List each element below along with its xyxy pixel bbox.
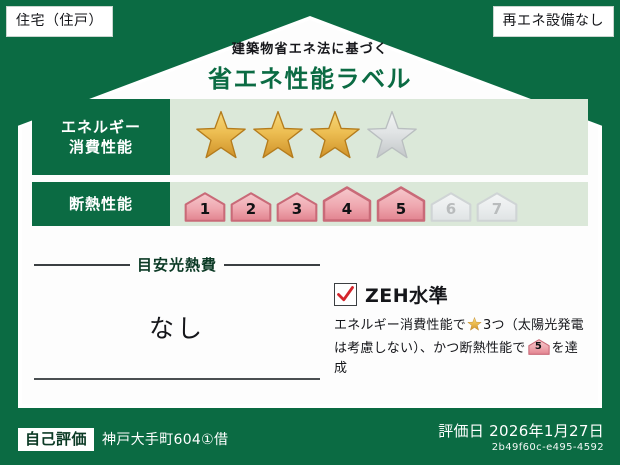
zeh-title: ZEH水準 bbox=[365, 281, 448, 308]
insulation-grade-value: 2 bbox=[246, 202, 256, 222]
insulation-grade-badges: 1234567 bbox=[184, 186, 518, 222]
insulation-performance-label: 断熱性能 bbox=[32, 182, 170, 226]
utility-cost-heading: 目安光熱費 bbox=[34, 254, 320, 275]
inline-badge-value: 5 bbox=[528, 339, 550, 355]
energy-performance-label: エネルギー 消費性能 bbox=[32, 99, 170, 175]
insulation-performance-row: 断熱性能 1234567 bbox=[32, 182, 588, 226]
utility-cost-heading-text: 目安光熱費 bbox=[137, 254, 217, 275]
energy-performance-value bbox=[170, 99, 588, 175]
insulation-grade-value: 3 bbox=[292, 202, 302, 222]
insulation-grade-6: 6 bbox=[430, 192, 472, 222]
insulation-grade-5: 5 bbox=[376, 186, 426, 222]
insulation-grade-3: 3 bbox=[276, 192, 318, 222]
insulation-grade-4: 4 bbox=[322, 186, 372, 222]
utility-cost-block: 目安光熱費 なし bbox=[34, 254, 320, 345]
star-filled-icon bbox=[308, 110, 362, 164]
insulation-grade-value: 7 bbox=[492, 202, 502, 222]
insulation-grade-2: 2 bbox=[230, 192, 272, 222]
star-filled-icon bbox=[194, 110, 248, 164]
zeh-description: エネルギー消費性能で3つ（太陽光発電は考慮しない）、かつ断熱性能で5を達成 bbox=[334, 316, 586, 379]
energy-label-line-1: エネルギー bbox=[61, 118, 141, 136]
energy-performance-row: エネルギー 消費性能 bbox=[32, 99, 588, 175]
performance-rows: エネルギー 消費性能 断熱性能 1234567 bbox=[32, 99, 588, 233]
utility-cost-bottom-rule bbox=[34, 378, 320, 380]
insulation-grade-1: 1 bbox=[184, 192, 226, 222]
property-address: 神戸大手町604①借 bbox=[102, 429, 228, 449]
utility-cost-value: なし bbox=[34, 309, 320, 345]
self-evaluation-badge: 自己評価 bbox=[18, 428, 94, 452]
zeh-checkbox-checked-icon bbox=[334, 283, 357, 306]
star-rating bbox=[194, 110, 419, 164]
zeh-desc-part-1: エネルギー消費性能で bbox=[334, 318, 466, 333]
insulation-performance-value: 1234567 bbox=[170, 182, 588, 226]
zeh-heading: ZEH水準 bbox=[334, 281, 586, 308]
insulation-grade-7: 7 bbox=[476, 192, 518, 222]
insulation-grade-value: 4 bbox=[342, 202, 352, 222]
star-empty-icon bbox=[365, 110, 419, 164]
insulation-grade-value: 1 bbox=[200, 202, 210, 222]
energy-label-line-2: 消費性能 bbox=[69, 138, 133, 156]
energy-performance-label: 住宅（住戸） 再エネ設備なし 建築物省エネ法に基づく 省エネ性能ラベル エネルギ… bbox=[0, 0, 620, 465]
footer-right: 評価日 2026年1月27日 2b49f60c-e495-4592 bbox=[438, 422, 604, 453]
renewable-equipment-tag: 再エネ設備なし bbox=[493, 6, 615, 37]
insulation-grade-value: 5 bbox=[396, 202, 406, 222]
footer-left: 自己評価 神戸大手町604①借 bbox=[18, 428, 228, 452]
heading-rule-right bbox=[224, 264, 320, 266]
evaluation-id: 2b49f60c-e495-4592 bbox=[438, 442, 604, 453]
building-type-tag: 住宅（住戸） bbox=[6, 6, 113, 37]
evaluation-date: 評価日 2026年1月27日 bbox=[438, 422, 604, 440]
zeh-block: ZEH水準 エネルギー消費性能で3つ（太陽光発電は考慮しない）、かつ断熱性能で5… bbox=[334, 281, 586, 379]
insulation-grade-value: 6 bbox=[446, 202, 456, 222]
heading-rule-left bbox=[34, 264, 130, 266]
star-filled-icon bbox=[251, 110, 305, 164]
star-icon bbox=[467, 321, 482, 336]
insulation-badge-icon: 5 bbox=[528, 339, 550, 355]
star-filled-icon bbox=[467, 317, 482, 332]
